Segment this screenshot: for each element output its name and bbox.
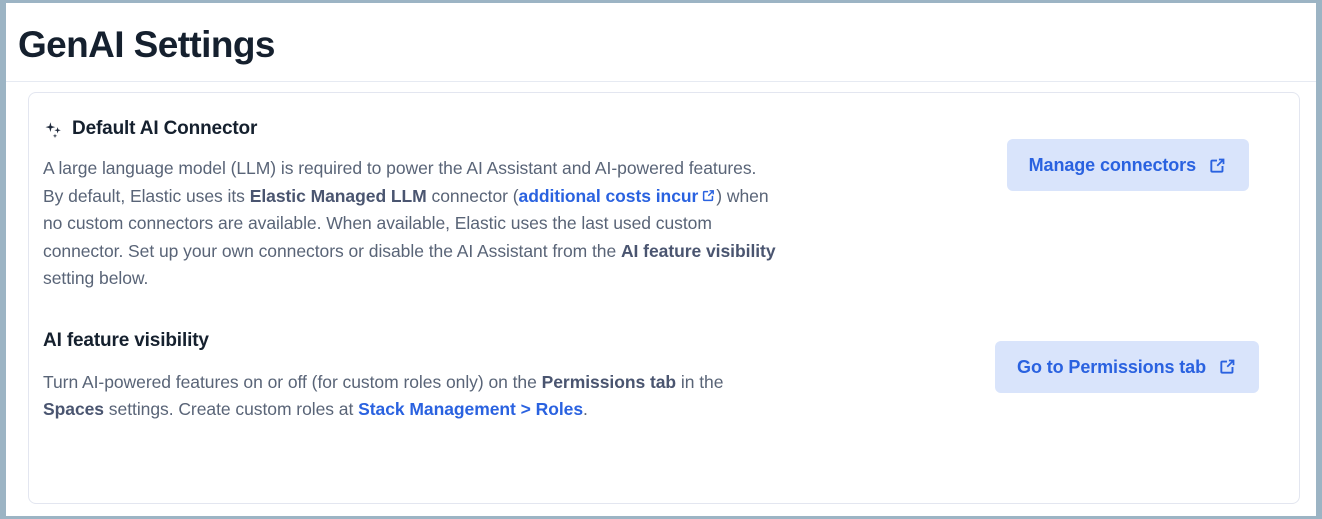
- desc-part-4: .: [583, 399, 588, 419]
- external-link-icon: [701, 184, 716, 199]
- desc-bold-spaces: Spaces: [43, 399, 104, 419]
- desc-part-4: setting below.: [43, 268, 148, 288]
- external-link-icon: [1218, 357, 1237, 376]
- desc-bold-elastic-managed-llm: Elastic Managed LLM: [250, 186, 427, 206]
- desc-part-1: Turn AI-powered features on or off (for …: [43, 372, 542, 392]
- page-title: GenAI Settings: [18, 23, 275, 67]
- go-to-permissions-tab-button[interactable]: Go to Permissions tab: [995, 341, 1259, 393]
- manage-connectors-button[interactable]: Manage connectors: [1007, 139, 1249, 191]
- stack-management-roles-link[interactable]: Stack Management > Roles: [358, 399, 583, 419]
- ai-feature-visibility-description: Turn AI-powered features on or off (for …: [43, 369, 779, 424]
- panel-wrapper: Default AI Connector A large language mo…: [6, 82, 1316, 504]
- section-action: Go to Permissions tab: [995, 329, 1269, 393]
- section-action: Manage connectors: [1007, 117, 1269, 191]
- desc-part-2: connector (: [427, 186, 519, 206]
- desc-bold-permissions-tab: Permissions tab: [542, 372, 676, 392]
- ai-feature-visibility-heading-label: AI feature visibility: [43, 329, 209, 353]
- desc-bold-ai-feature-visibility: AI feature visibility: [621, 241, 776, 261]
- section-ai-feature-visibility: AI feature visibility Turn AI-powered fe…: [43, 329, 1269, 424]
- default-ai-connector-heading: Default AI Connector: [43, 117, 779, 141]
- settings-panel: Default AI Connector A large language mo…: [28, 92, 1300, 504]
- default-ai-connector-heading-label: Default AI Connector: [72, 117, 257, 141]
- external-link-icon: [1208, 156, 1227, 175]
- desc-part-2: in the: [676, 372, 723, 392]
- go-to-permissions-tab-button-label: Go to Permissions tab: [1017, 356, 1206, 378]
- section-default-ai-connector: Default AI Connector A large language mo…: [43, 117, 1269, 293]
- sparkles-icon: [43, 120, 63, 140]
- additional-costs-incur-link[interactable]: additional costs incur: [519, 186, 717, 206]
- section-body: Default AI Connector A large language mo…: [43, 117, 779, 293]
- additional-costs-incur-link-label: additional costs incur: [519, 186, 699, 206]
- genai-settings-window: GenAI Settings Default AI Connecto: [0, 0, 1322, 519]
- manage-connectors-button-label: Manage connectors: [1029, 154, 1196, 176]
- default-ai-connector-description: A large language model (LLM) is required…: [43, 155, 779, 293]
- ai-feature-visibility-heading: AI feature visibility: [43, 329, 779, 353]
- page-header: GenAI Settings: [6, 3, 1316, 82]
- desc-part-3: settings. Create custom roles at: [104, 399, 358, 419]
- section-body: AI feature visibility Turn AI-powered fe…: [43, 329, 779, 424]
